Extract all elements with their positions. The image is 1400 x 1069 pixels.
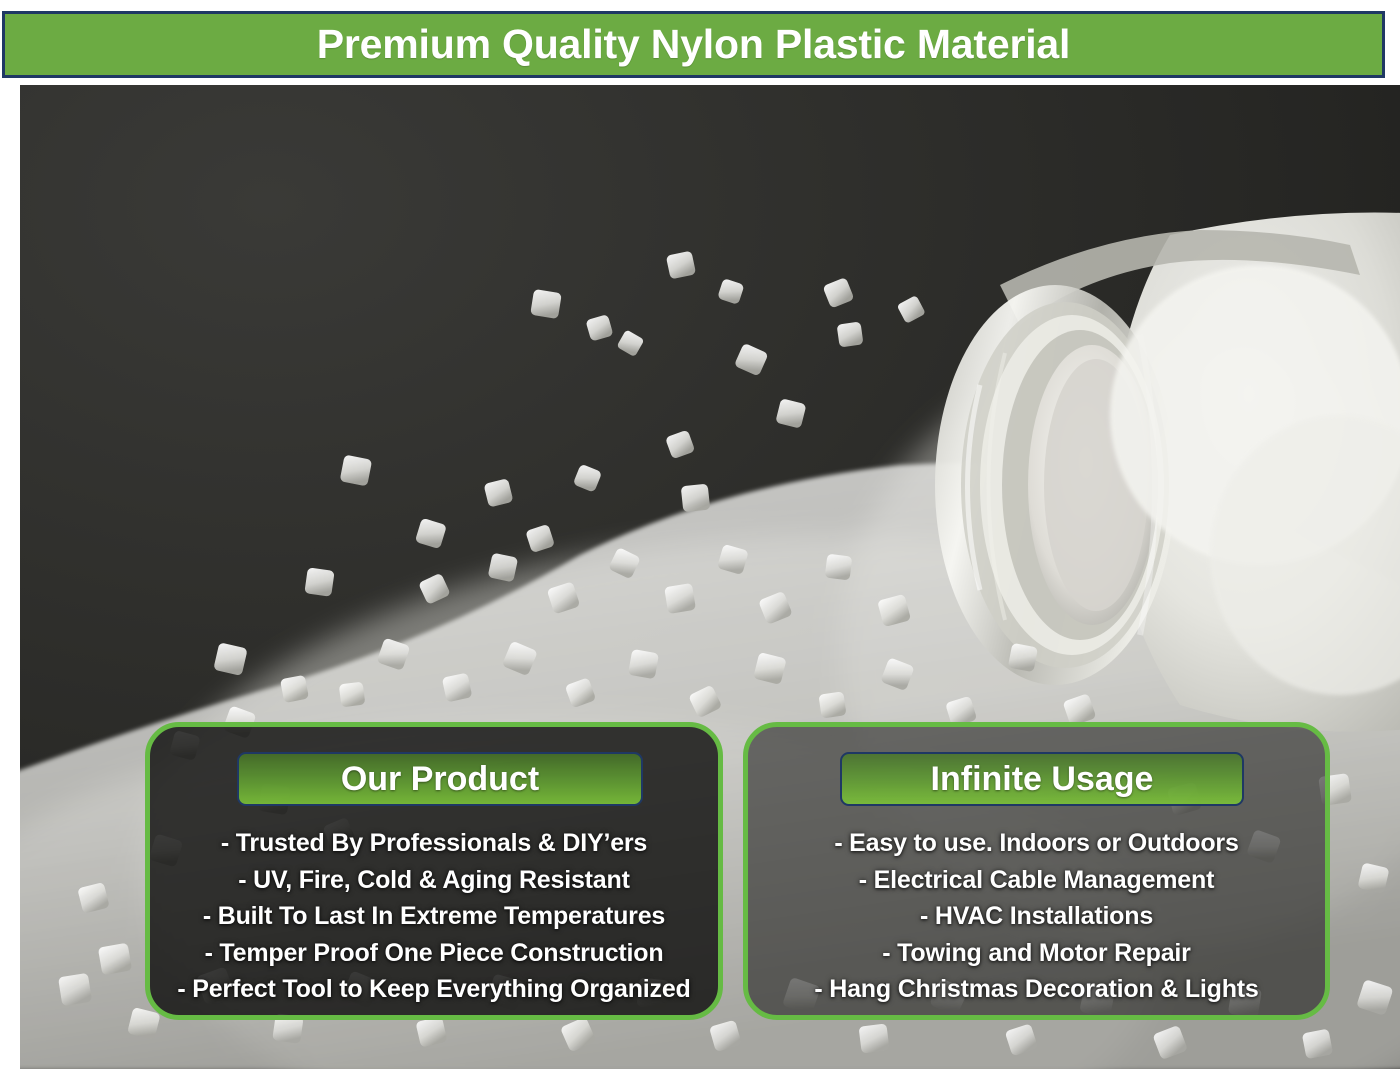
infinite-usage-bullet-list: - Easy to use. Indoors or Outdoors - Ele… bbox=[748, 825, 1325, 1008]
list-item: - Perfect Tool to Keep Everything Organi… bbox=[150, 971, 718, 1008]
panel-title-badge-our-product: Our Product bbox=[237, 752, 643, 806]
list-item: - UV, Fire, Cold & Aging Resistant bbox=[150, 862, 718, 899]
glass-jar bbox=[935, 213, 1400, 732]
panel-title-badge-infinite-usage: Infinite Usage bbox=[840, 752, 1244, 806]
page-title: Premium Quality Nylon Plastic Material bbox=[317, 24, 1070, 65]
panel-title-our-product: Our Product bbox=[341, 762, 539, 796]
list-item: - Trusted By Professionals & DIY’ers bbox=[150, 825, 718, 862]
list-item: - Hang Christmas Decoration & Lights bbox=[748, 971, 1325, 1008]
list-item: - Easy to use. Indoors or Outdoors bbox=[748, 825, 1325, 862]
promotional-banner-image: Premium Quality Nylon Plastic Material bbox=[0, 0, 1400, 1069]
header-banner: Premium Quality Nylon Plastic Material bbox=[2, 11, 1385, 78]
panel-title-infinite-usage: Infinite Usage bbox=[931, 762, 1154, 796]
list-item: - Towing and Motor Repair bbox=[748, 935, 1325, 972]
list-item: - Built To Last In Extreme Temperatures bbox=[150, 898, 718, 935]
panel-our-product: Our Product - Trusted By Professionals &… bbox=[145, 722, 723, 1020]
list-item: - Electrical Cable Management bbox=[748, 862, 1325, 899]
panel-infinite-usage: Infinite Usage - Easy to use. Indoors or… bbox=[743, 722, 1330, 1020]
list-item: - HVAC Installations bbox=[748, 898, 1325, 935]
list-item: - Temper Proof One Piece Construction bbox=[150, 935, 718, 972]
our-product-bullet-list: - Trusted By Professionals & DIY’ers - U… bbox=[150, 825, 718, 1008]
